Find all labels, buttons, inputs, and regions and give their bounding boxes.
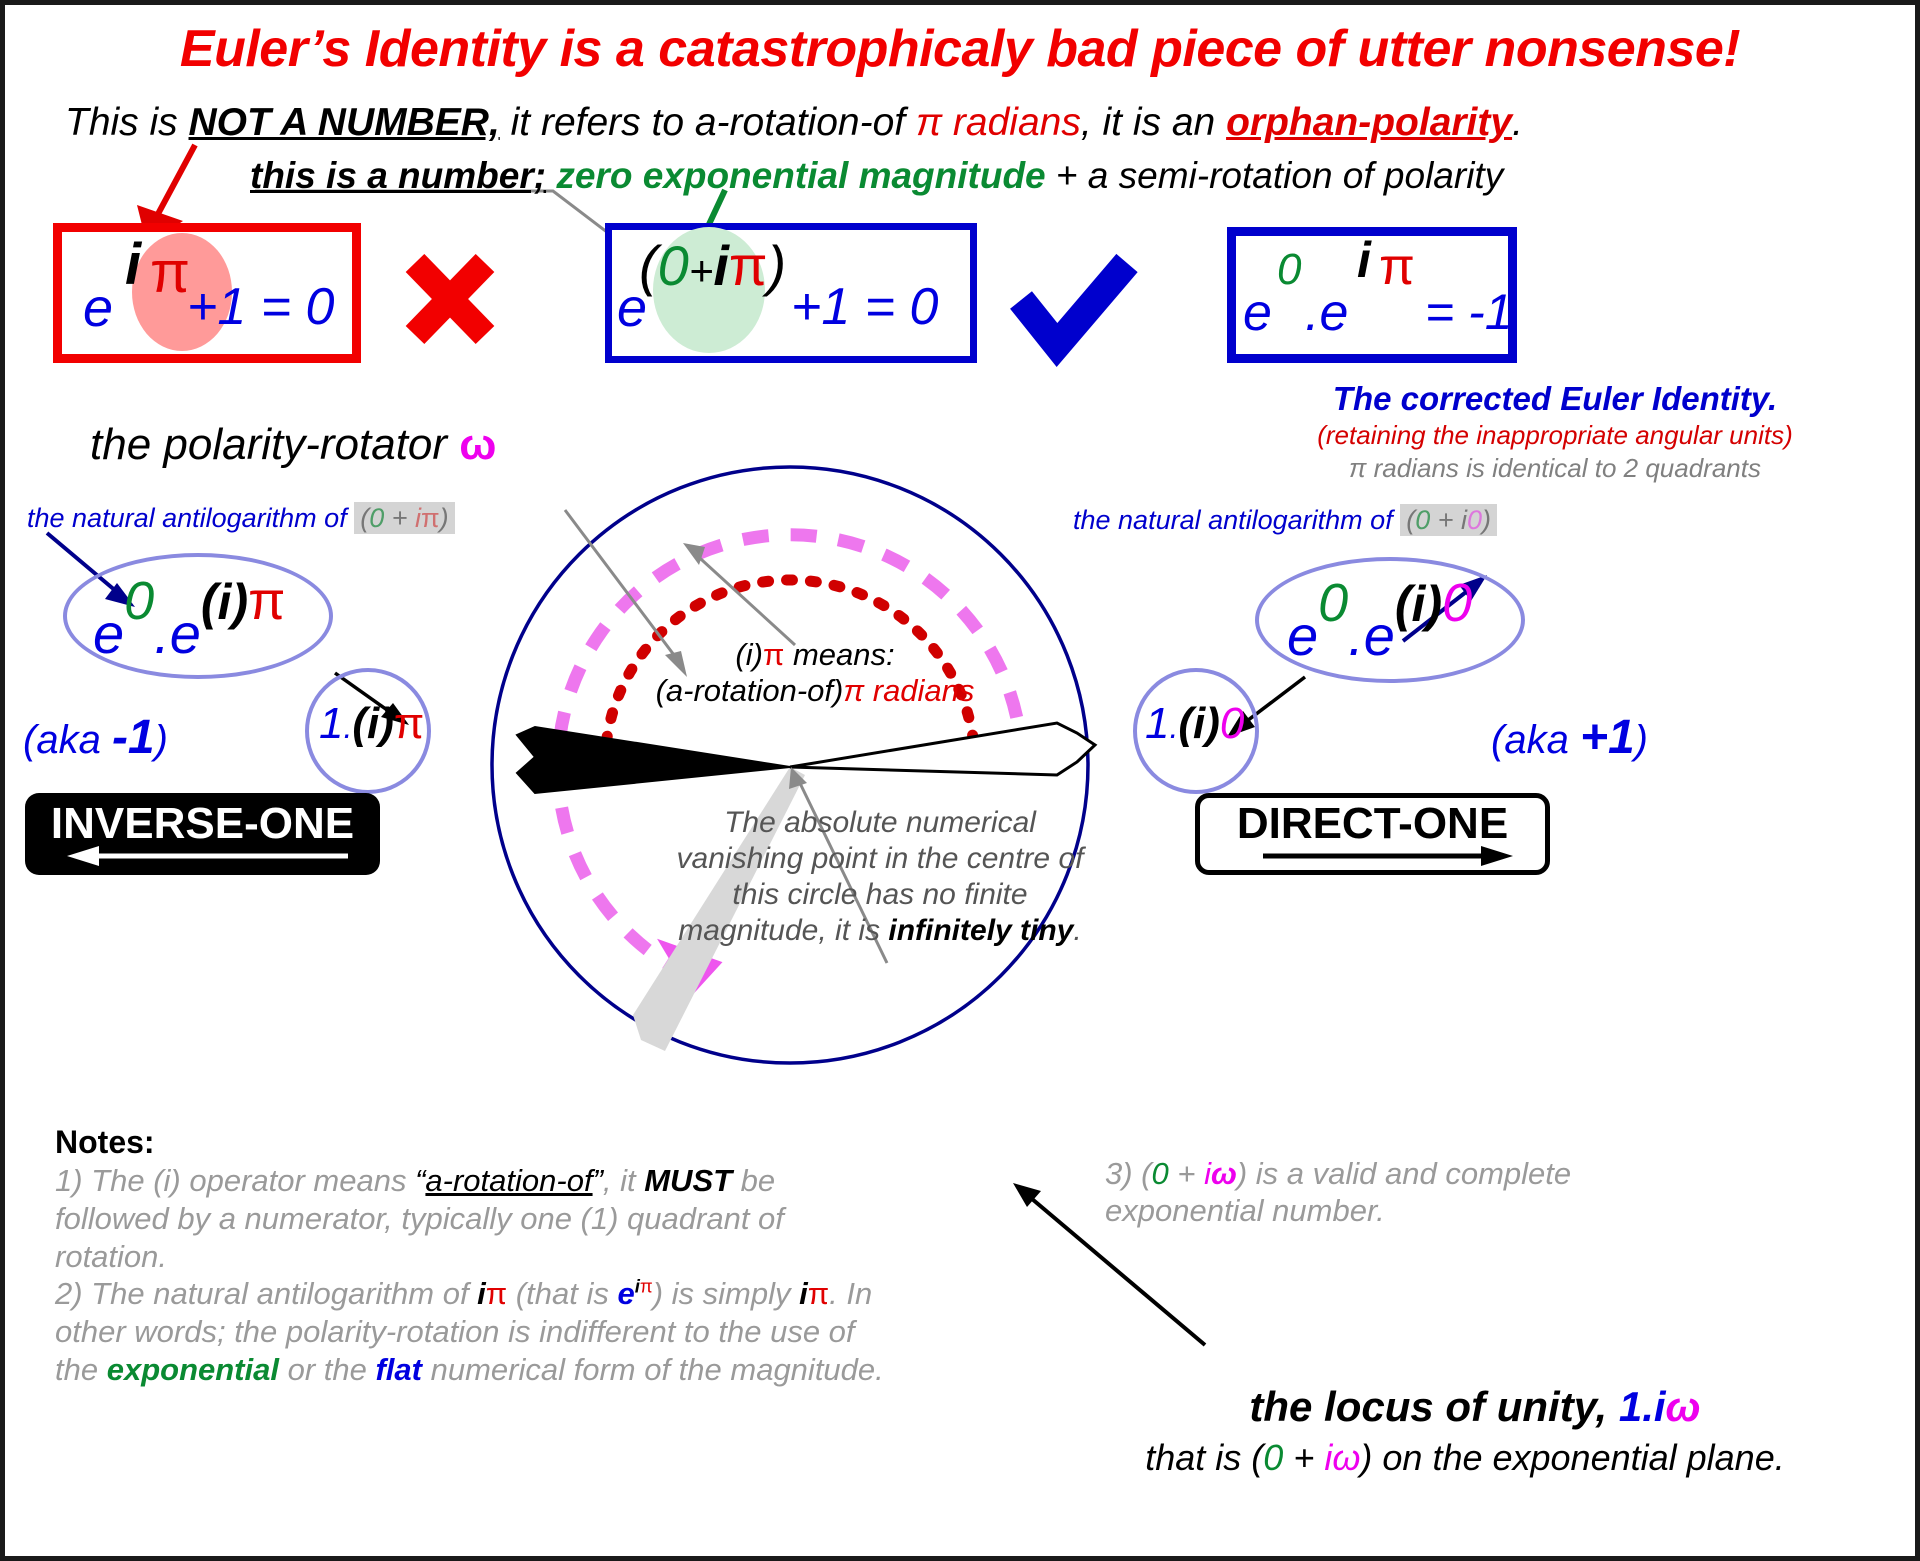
note-3: 3) (0 + iω) is a valid and complete expo… — [1105, 1155, 1625, 1229]
circle-left-expression: 1.(i)π — [319, 699, 424, 749]
n2suppi: π — [640, 1276, 653, 1297]
cl-pi: π — [394, 699, 424, 748]
n2pi: π — [486, 1276, 507, 1311]
n2e: e — [617, 1276, 634, 1311]
akar-close: ) — [1635, 718, 1648, 762]
subtitle-line-1: This is NOT A NUMBER, it refers to a-rot… — [65, 101, 1523, 145]
vanishing-point-annotation: The absolute numerical vanishing point i… — [665, 805, 1095, 949]
corrected-exponent-i: i — [1357, 231, 1371, 289]
antilogarithm-right-label: the natural antilogarithm of (0 + i0) — [1073, 505, 1497, 536]
pi-term: π — [729, 234, 768, 297]
corrected-dot-e: .e — [1305, 283, 1348, 343]
not-a-number-emphasis: NOT A NUMBER, — [189, 101, 500, 144]
er-sup0b: 0 — [1442, 573, 1472, 633]
locus-of-unity-title: the locus of unity, 1.iω — [1035, 1383, 1915, 1431]
cl-i: (i) — [352, 699, 394, 748]
n3omega: ω — [1211, 1156, 1237, 1191]
inverse-one-vector — [517, 727, 790, 793]
notes-block: Notes: 1) The (i) operator means “a-rota… — [55, 1123, 885, 1389]
flat-term: flat — [375, 1352, 422, 1387]
n2c: ) is simply — [653, 1276, 799, 1311]
n2e2: or the — [279, 1352, 376, 1387]
i-term: i — [713, 234, 729, 297]
leader-means — [683, 543, 795, 645]
check-mark-icon — [1021, 263, 1127, 345]
orphan-polarity-emphasis: orphan-polarity — [1226, 101, 1512, 144]
n1b: , it — [603, 1163, 644, 1198]
ar-close: ) — [1482, 505, 1491, 535]
n1q2: ” — [593, 1163, 603, 1198]
wrong-equation-exponent-pi: π — [150, 239, 190, 306]
akal-value: -1 — [112, 711, 155, 764]
n3a: 3) ( — [1105, 1156, 1152, 1191]
corrected-exponent-0: 0 — [1277, 245, 1301, 295]
n2pi2: π — [808, 1276, 829, 1311]
polarity-rotator-label: the polarity-rotator ω — [90, 420, 496, 470]
pi-radians-quadrants-note: π radians is identical to 2 quadrants — [1195, 453, 1915, 484]
wrong-equation-exponent-i: i — [125, 231, 141, 298]
sub1-b: it refers to a-rotation-of — [500, 101, 916, 144]
n2b: (that is — [507, 1276, 617, 1311]
er-e1: e — [1287, 604, 1318, 667]
must-term: MUST — [644, 1163, 732, 1198]
ar-val: 0 — [1467, 505, 1482, 535]
sub1-c: , it is an — [1081, 101, 1226, 144]
poster-canvas: Euler’s Identity is a catastrophicaly ba… — [0, 0, 1920, 1561]
cr-one: 1 — [1145, 699, 1169, 748]
al-open: ( — [360, 503, 369, 533]
locus-of-unity-subtitle: that is (0 + iω) on the exponential plan… — [1005, 1437, 1920, 1479]
paren-close: ) — [768, 234, 787, 297]
aka-plus-one-label: (aka +1) — [1491, 710, 1648, 765]
means-l2a: (a-rotation-of) — [656, 673, 844, 708]
paren-open: ( — [639, 234, 658, 297]
subtitle-line-2: this is a number; zero exponential magni… — [250, 155, 1503, 197]
locus2-omega: ω — [1332, 1437, 1360, 1478]
er-supi: (i) — [1395, 576, 1442, 632]
infinitely-tiny-emphasis: infinitely tiny — [888, 914, 1073, 947]
n2i: i — [477, 1276, 486, 1311]
ellipse-right-expression: e0.e(i)0 — [1287, 603, 1472, 668]
inverse-one-badge[interactable]: INVERSE-ONE — [25, 793, 380, 875]
al-zero: 0 — [369, 503, 384, 533]
ellipse-left-expression: e0.e(i)π — [93, 601, 285, 666]
means-l2b: π radians — [843, 673, 974, 708]
zero-term: 0 — [658, 234, 689, 297]
a-rotation-of-term: a-rotation-of — [425, 1163, 592, 1198]
n3i: i — [1204, 1156, 1211, 1191]
corrected-exponent-pi: π — [1379, 237, 1415, 297]
plus-term: + — [689, 247, 714, 294]
cross-mark-icon — [415, 263, 485, 335]
corrected-identity-note: (retaining the inappropriate angular uni… — [1195, 420, 1915, 451]
n2f: numerical form of the magnitude. — [422, 1352, 884, 1387]
wrong-equation-tail: +1 = 0 — [187, 277, 334, 337]
cr-zero: 0 — [1220, 699, 1244, 748]
locus-one: 1.i — [1619, 1383, 1666, 1430]
n1q1: “ — [415, 1163, 425, 1198]
inverse-one-label: INVERSE-ONE — [51, 802, 354, 845]
direct-one-vector — [790, 723, 1095, 775]
el-e1: e — [93, 602, 124, 665]
vanish-c: . — [1073, 914, 1081, 947]
corrected-base-1: e — [1243, 283, 1272, 343]
cl-one: 1 — [319, 699, 343, 748]
n2a: 2) The natural antilogarithm of — [55, 1276, 477, 1311]
n2i2: i — [799, 1276, 808, 1311]
antilog-left-text: the natural antilogarithm of — [27, 503, 354, 533]
locus2-plus: + — [1283, 1437, 1324, 1478]
direct-one-badge[interactable]: DIRECT-ONE — [1195, 793, 1550, 875]
sub1-a: This is — [65, 101, 189, 144]
akal-open: (aka — [23, 718, 112, 762]
al-pi: π — [421, 503, 440, 533]
sub1-d: . — [1512, 101, 1523, 144]
al-plus: + — [384, 503, 415, 533]
el-supi: (i) — [201, 574, 248, 630]
cr-i: (i) — [1178, 699, 1220, 748]
right-arrow-icon — [1223, 846, 1523, 866]
locus2-b: ) on the exponential plane. — [1360, 1437, 1784, 1478]
circle-right-expression: 1.(i)0 — [1145, 699, 1244, 749]
direct-one-label: DIRECT-ONE — [1237, 802, 1508, 845]
means-l1b: means: — [784, 637, 894, 672]
exponential-term: exponential — [107, 1352, 279, 1387]
this-is-a-number-emphasis: this is a number; — [250, 155, 546, 196]
locus-a: the locus of unity, — [1249, 1383, 1618, 1430]
al-close: ) — [440, 503, 449, 533]
note-2: 2) The natural antilogarithm of iπ (that… — [55, 1275, 885, 1388]
n3plus: + — [1169, 1156, 1204, 1191]
page-title: Euler’s Identity is a catastrophicaly ba… — [5, 19, 1915, 79]
n3zero: 0 — [1152, 1156, 1169, 1191]
el-sup0: 0 — [124, 571, 154, 631]
pi-radians-text: π radians — [916, 101, 1081, 144]
akal-close: ) — [155, 718, 168, 762]
aka-minus-one-label: (aka -1) — [23, 710, 168, 765]
locus-omega: ω — [1666, 1383, 1701, 1430]
corrected-tail: = -1 — [1425, 283, 1513, 341]
locus2-a: that is ( — [1145, 1437, 1263, 1478]
el-suppi: π — [248, 571, 285, 631]
right-equation-exponent: (0+iπ) — [639, 233, 786, 298]
ar-open: ( — [1406, 505, 1415, 535]
n1a: 1) The (i) operator means — [55, 1163, 415, 1198]
omega-symbol: ω — [459, 420, 496, 469]
left-arrow-icon — [53, 846, 353, 866]
akar-open: (aka — [1491, 718, 1580, 762]
means-l1a: (i) — [735, 637, 763, 672]
corrected-identity-caption: The corrected Euler Identity. — [1195, 380, 1915, 418]
antilogarithm-left-label: the natural antilogarithm of (0 + iπ) — [27, 503, 455, 534]
right-equation-tail: +1 = 0 — [791, 277, 938, 337]
ar-plus: + — [1430, 505, 1461, 535]
polarity-rotator-text: the polarity-rotator — [90, 420, 459, 469]
er-dot: .e — [1348, 604, 1395, 667]
antilog-right-text: the natural antilogarithm of — [1073, 505, 1400, 535]
wrong-equation-base: e — [83, 277, 113, 339]
el-dot: .e — [154, 602, 201, 665]
sub2-c: + a semi-rotation of polarity — [1046, 155, 1504, 196]
akar-value: +1 — [1580, 711, 1635, 764]
means-l1pi: π — [763, 637, 784, 672]
zero-exponential-magnitude-text: zero exponential magnitude — [546, 155, 1046, 196]
locus2-zero: 0 — [1263, 1437, 1283, 1478]
i-pi-meaning-annotation: (i)π means: (a-rotation-of)π radians — [605, 637, 1025, 708]
note-1: 1) The (i) operator means “a-rotation-of… — [55, 1162, 885, 1275]
er-sup0: 0 — [1318, 573, 1348, 633]
ar-zero: 0 — [1415, 505, 1430, 535]
notes-header: Notes: — [55, 1123, 885, 1162]
